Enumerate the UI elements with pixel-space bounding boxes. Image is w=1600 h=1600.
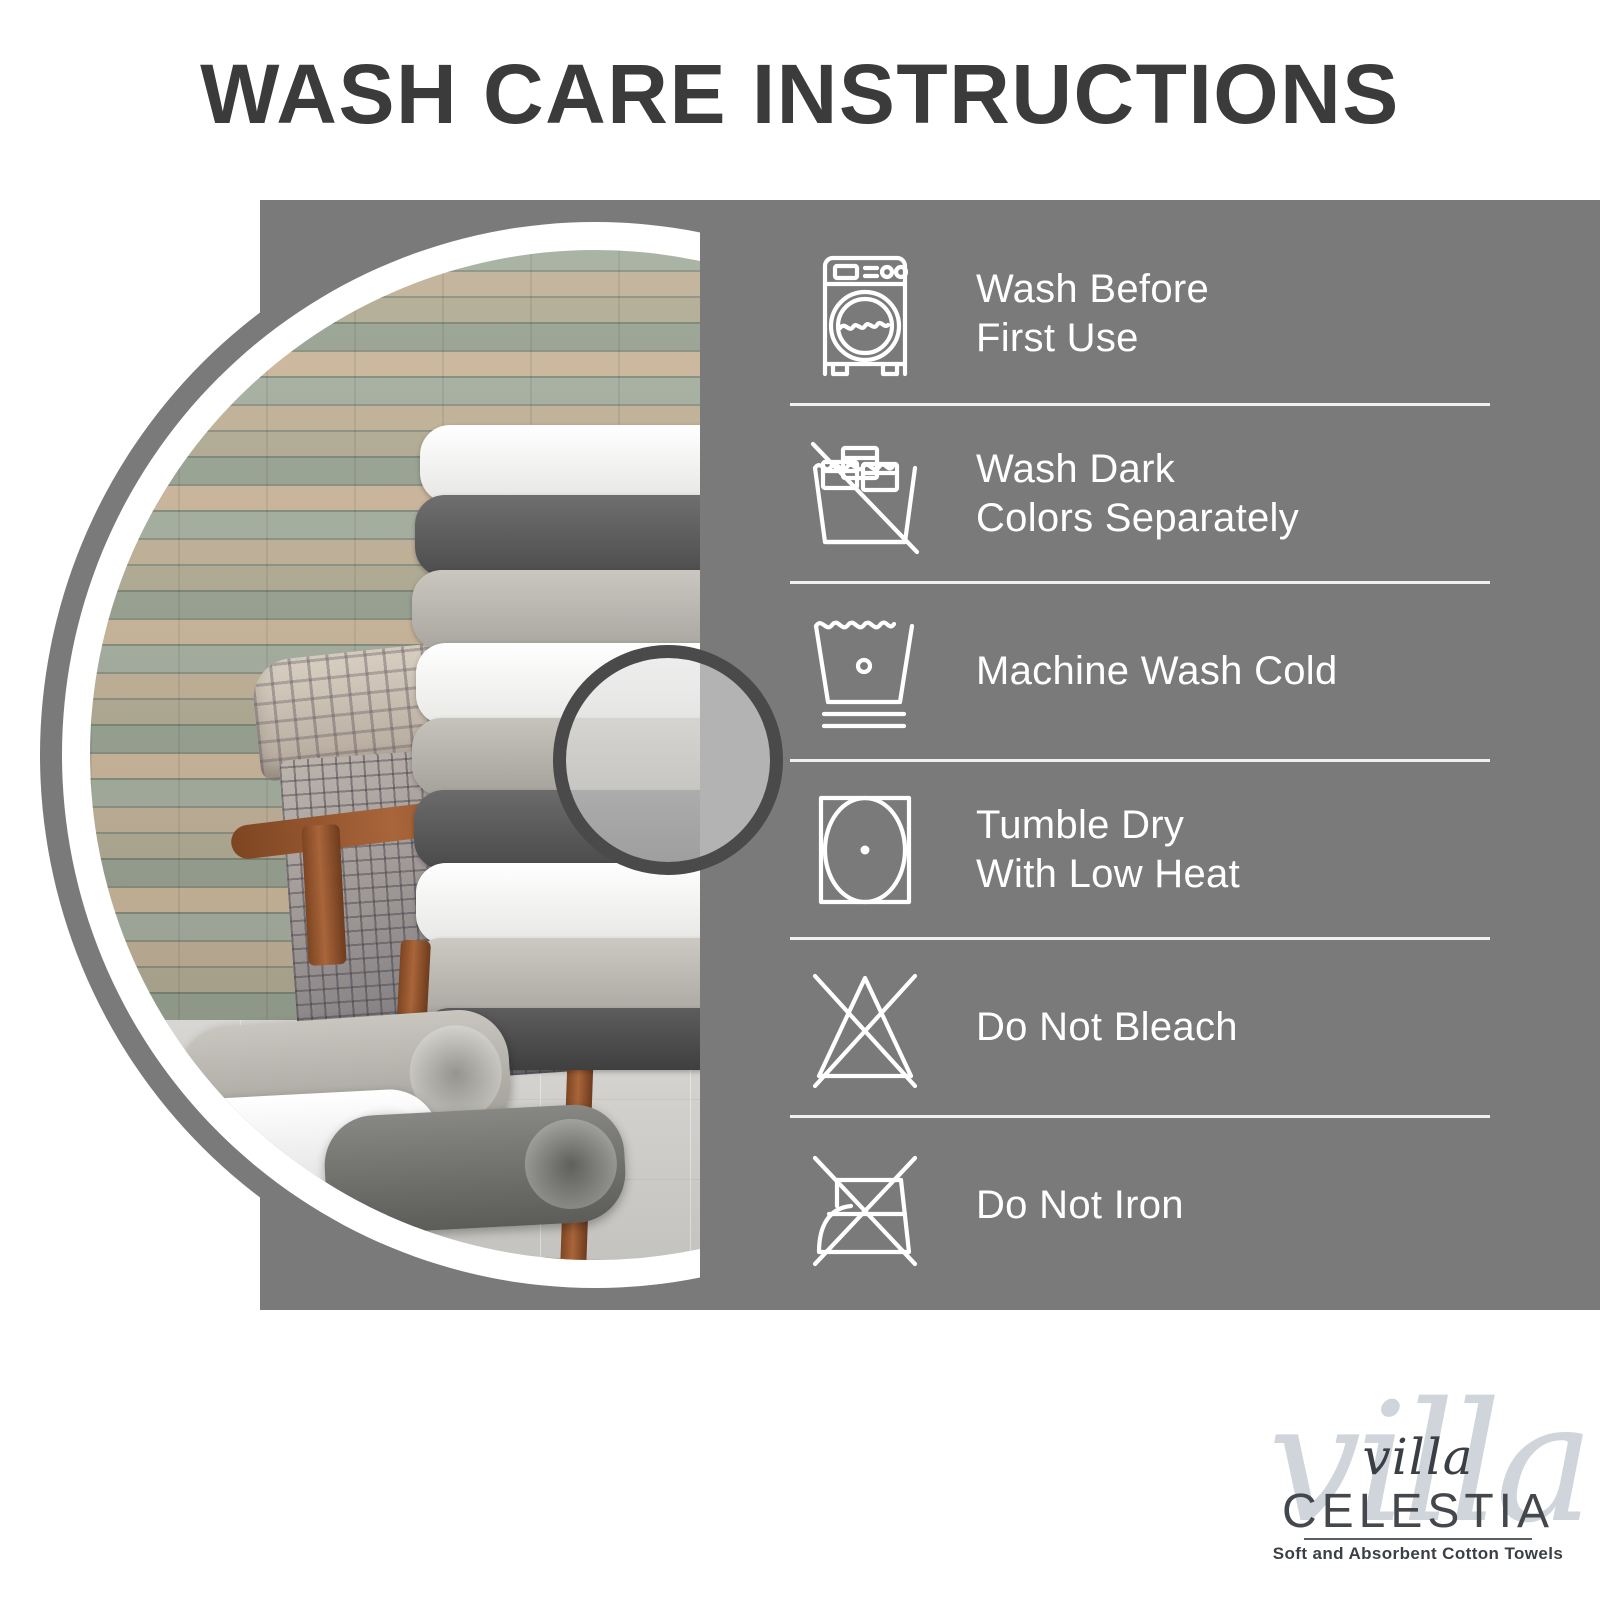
- logo-script-text: villa: [1268, 1428, 1568, 1486]
- instruction-row-wash-dark-colors-separately[interactable]: Wash Dark Colors Separately: [790, 403, 1490, 581]
- washing-machine-icon: [790, 250, 940, 378]
- chair-arm-post: [301, 824, 346, 966]
- tumble-dry-low-icon: [790, 786, 940, 914]
- logo-tagline: Soft and Absorbent Cotton Towels: [1268, 1544, 1568, 1564]
- instruction-label: Do Not Bleach: [940, 1003, 1238, 1052]
- instruction-label: Machine Wash Cold: [940, 647, 1338, 696]
- instruction-label: Do Not Iron: [940, 1181, 1184, 1230]
- instruction-label: Wash Before First Use: [940, 265, 1209, 363]
- instruction-label: Wash Dark Colors Separately: [940, 445, 1299, 543]
- instruction-row-wash-before-first-use[interactable]: Wash Before First Use: [790, 225, 1490, 403]
- instruction-row-do-not-iron[interactable]: Do Not Iron: [790, 1115, 1490, 1293]
- wash-care-infographic: WASH CARE INSTRUCTIONS: [0, 0, 1600, 1600]
- wash-dark-separately-icon: [790, 430, 940, 558]
- do-not-iron-icon: [790, 1142, 940, 1270]
- accent-circle-overlay: [553, 645, 783, 875]
- folded-towel: [416, 863, 700, 945]
- brand-logo: villa villa CELESTIA Soft and Absorbent …: [1268, 1372, 1568, 1582]
- folded-towel: [415, 495, 700, 577]
- instruction-row-do-not-bleach[interactable]: Do Not Bleach: [790, 937, 1490, 1115]
- instruction-label: Tumble Dry With Low Heat: [940, 801, 1240, 899]
- machine-wash-cold-icon: [790, 608, 940, 736]
- instruction-row-machine-wash-cold[interactable]: Machine Wash Cold: [790, 581, 1490, 759]
- instruction-row-tumble-dry-low-heat[interactable]: Tumble Dry With Low Heat: [790, 759, 1490, 937]
- logo-brand-name: CELESTIA: [1276, 1484, 1560, 1539]
- page-title: WASH CARE INSTRUCTIONS: [0, 46, 1600, 143]
- do-not-bleach-icon: [790, 964, 940, 1092]
- instruction-list: Wash Before First Use Wash Dark Colors S…: [790, 225, 1490, 1300]
- rolled-towel-dark: [322, 1102, 628, 1236]
- folded-towel: [412, 938, 700, 1016]
- folded-towel: [412, 570, 700, 650]
- logo-divider: [1304, 1538, 1532, 1540]
- folded-towel: [420, 425, 700, 503]
